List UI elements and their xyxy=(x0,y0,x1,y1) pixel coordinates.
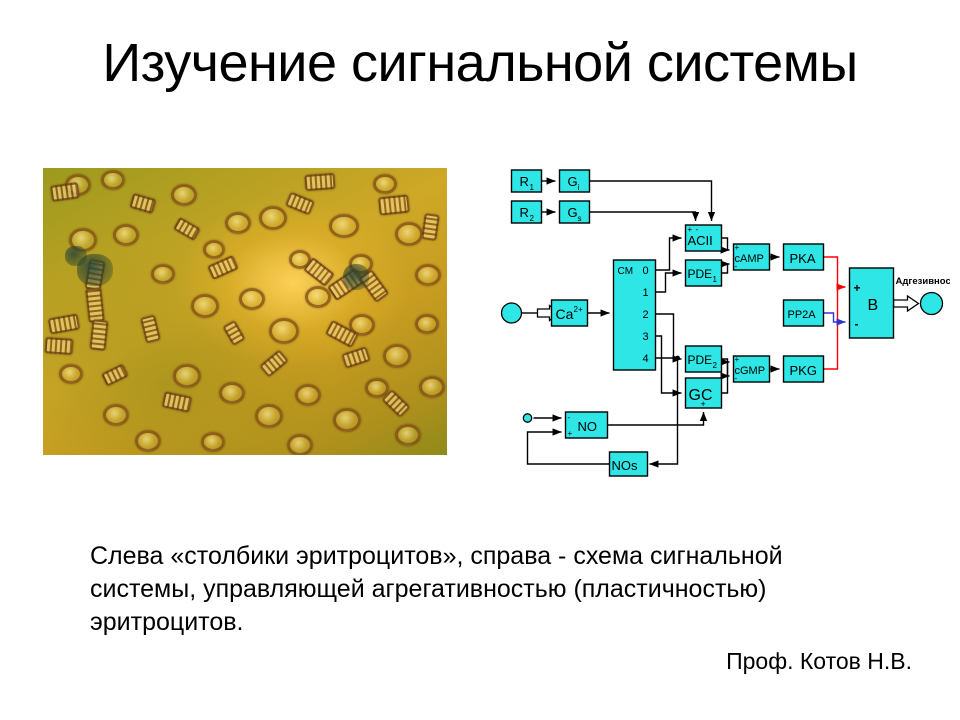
block-pp2a[interactable]: PP2A xyxy=(784,300,824,326)
block-cgmp[interactable]: + - cGMP xyxy=(734,355,770,383)
block-gi-sub: i xyxy=(578,183,580,192)
b-plus-sign: + xyxy=(854,281,861,295)
block-pp2a-label: PP2A xyxy=(788,309,817,321)
block-r1-sub: 1 xyxy=(530,183,535,192)
page-title: Изучение сигнальной системы xyxy=(0,32,960,94)
diagram-blocks: R 1 R 2 G i G s + - ACII PDE 1 xyxy=(512,170,951,476)
block-b-label: B xyxy=(868,297,879,314)
camp-plus-sign: + xyxy=(735,243,740,252)
cgmp-plus-sign: + xyxy=(735,355,740,364)
block-pde2-sub: 2 xyxy=(713,361,718,370)
adhesiveness-output-node xyxy=(921,293,943,315)
block-cm[interactable]: CM 0 1 2 3 4 xyxy=(614,260,656,370)
block-camp[interactable]: + - cAMP xyxy=(734,243,770,271)
block-no[interactable]: - + NO xyxy=(566,412,608,438)
cm-port-4: 4 xyxy=(643,353,649,365)
block-gs-sub: s xyxy=(578,214,582,223)
block-r1-label: R xyxy=(520,174,529,189)
block-nos-label: NOs xyxy=(612,458,639,473)
block-ca[interactable]: Ca 2+ xyxy=(552,300,588,326)
block-pde1-label: PDE xyxy=(688,267,713,281)
block-r2[interactable]: R 2 xyxy=(512,201,542,223)
adhesiveness-output-label: Адгезивность xyxy=(896,276,951,287)
block-camp-label: cAMP xyxy=(735,253,764,265)
block-no-label: NO xyxy=(578,419,598,434)
no-plus-sign: + xyxy=(568,429,573,438)
block-gi-label: G xyxy=(568,174,578,189)
block-r2-label: R xyxy=(520,205,529,220)
block-pkg-label: PKG xyxy=(790,363,817,378)
adhesiveness-output-arrow xyxy=(894,296,919,311)
cm-port-2: 2 xyxy=(643,309,649,321)
erythrocyte-micrograph-image xyxy=(43,168,447,455)
control-lines xyxy=(824,257,846,369)
block-cgmp-label: cGMP xyxy=(735,365,766,377)
block-r1[interactable]: R 1 xyxy=(512,170,542,192)
cm-port-3: 3 xyxy=(643,331,649,343)
dark-aggregate xyxy=(343,264,369,290)
block-ca-sup: 2+ xyxy=(574,305,583,314)
block-ca-label: Ca xyxy=(556,306,574,322)
block-r2-sub: 2 xyxy=(530,214,535,223)
slide-caption: Слева «столбики эритроцитов», справа - с… xyxy=(90,540,890,639)
block-pka-label: PKA xyxy=(790,251,816,266)
b-minus-sign: - xyxy=(855,317,859,331)
slide-attribution: Проф. Котов Н.В. xyxy=(0,648,912,675)
block-acii-label: ACII xyxy=(688,233,713,248)
cm-port-1: 1 xyxy=(643,287,649,299)
no-source-node xyxy=(523,414,531,422)
dark-aggregate xyxy=(65,246,87,266)
block-pde2-label: PDE xyxy=(688,353,713,367)
block-acii[interactable]: + - ACII xyxy=(686,225,722,251)
block-gs-label: G xyxy=(568,205,578,220)
block-gc[interactable]: GC + xyxy=(686,378,722,409)
block-pkg[interactable]: PKG xyxy=(784,356,824,382)
block-b[interactable]: + - B xyxy=(850,268,894,338)
block-nos[interactable]: NOs xyxy=(610,452,648,476)
no-minus-sign: - xyxy=(568,413,571,422)
signal-system-diagram: R 1 R 2 G i G s + - ACII PDE 1 xyxy=(465,160,950,490)
block-pde1[interactable]: PDE 1 xyxy=(686,260,722,286)
cm-port-0: 0 xyxy=(643,265,649,277)
gc-plus-sign: + xyxy=(701,399,706,409)
block-pka[interactable]: PKA xyxy=(784,244,824,270)
block-pde1-sub: 1 xyxy=(713,275,718,284)
block-pde2[interactable]: PDE 2 xyxy=(686,346,722,372)
block-gi[interactable]: G i xyxy=(560,170,590,192)
block-gs[interactable]: G s xyxy=(560,201,590,223)
micrograph-cells-layer xyxy=(43,168,447,455)
calcium-source-node xyxy=(502,303,522,323)
block-cm-label: CM xyxy=(618,266,634,277)
